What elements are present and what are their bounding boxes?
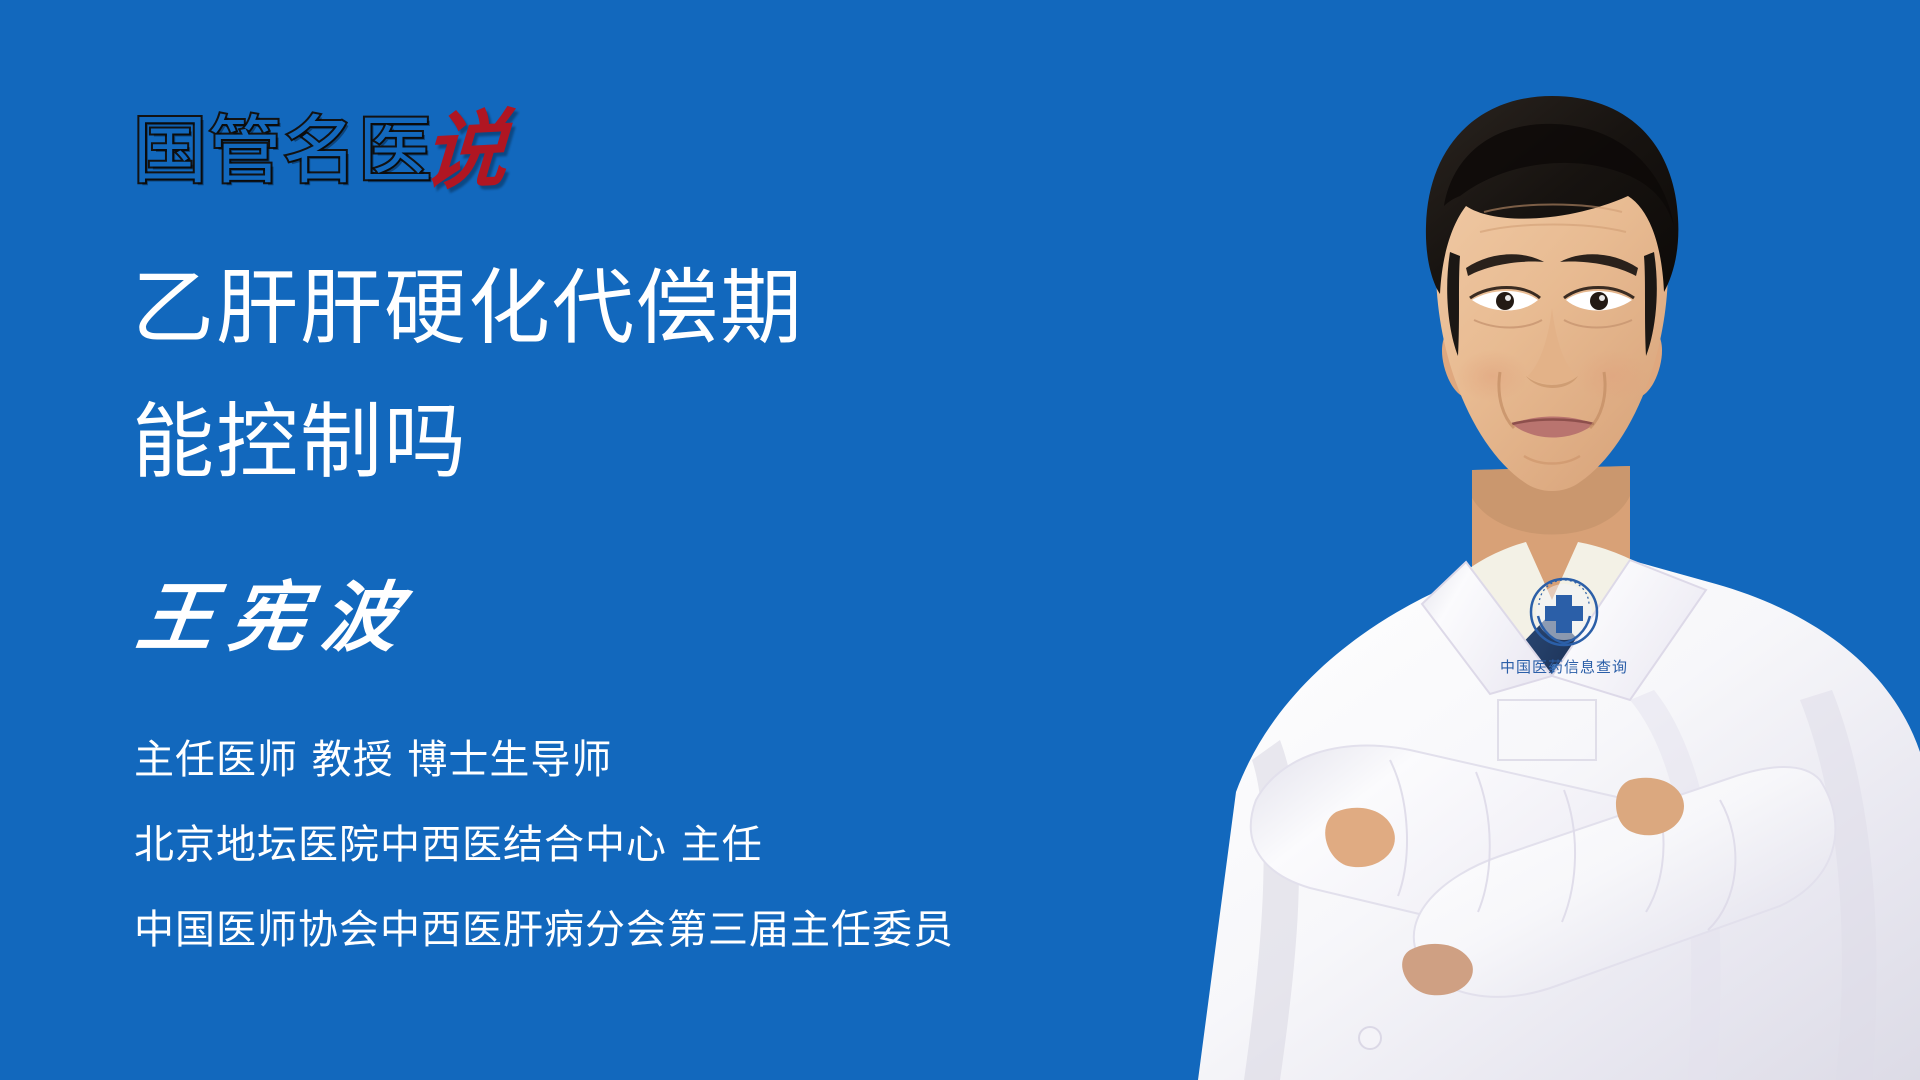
- title-line-2: 能控制吗: [132, 376, 1132, 510]
- credential-line-1: 主任医师 教授 博士生导师: [134, 718, 1254, 803]
- brand-logo: 国管名医 说: [133, 96, 507, 188]
- coat-badge-emblem: [1531, 579, 1597, 645]
- doctor-name: 王宪波: [132, 572, 421, 664]
- page-title: 乙肝肝硬化代偿期 能控制吗: [132, 242, 1132, 510]
- doctor-credentials: 主任医师 教授 博士生导师 北京地坛医院中西医结合中心 主任 中国医师协会中西医…: [134, 718, 1254, 973]
- credential-line-2: 北京地坛医院中西医结合中心 主任: [134, 803, 1254, 888]
- doctor-portrait: 中国医药信息查询: [1160, 0, 1920, 1080]
- svg-text:中国医药信息查询: 中国医药信息查询: [1500, 658, 1628, 676]
- credential-line-3: 中国医师协会中西医肝病分会第三届主任委员: [134, 888, 1254, 973]
- title-card: 中国医药信息查询: [0, 0, 1920, 1080]
- brand-logo-main-text: 国管名医: [133, 114, 433, 188]
- title-line-1: 乙肝肝硬化代偿期: [132, 242, 1132, 376]
- brand-logo-accent-text: 说: [421, 112, 509, 190]
